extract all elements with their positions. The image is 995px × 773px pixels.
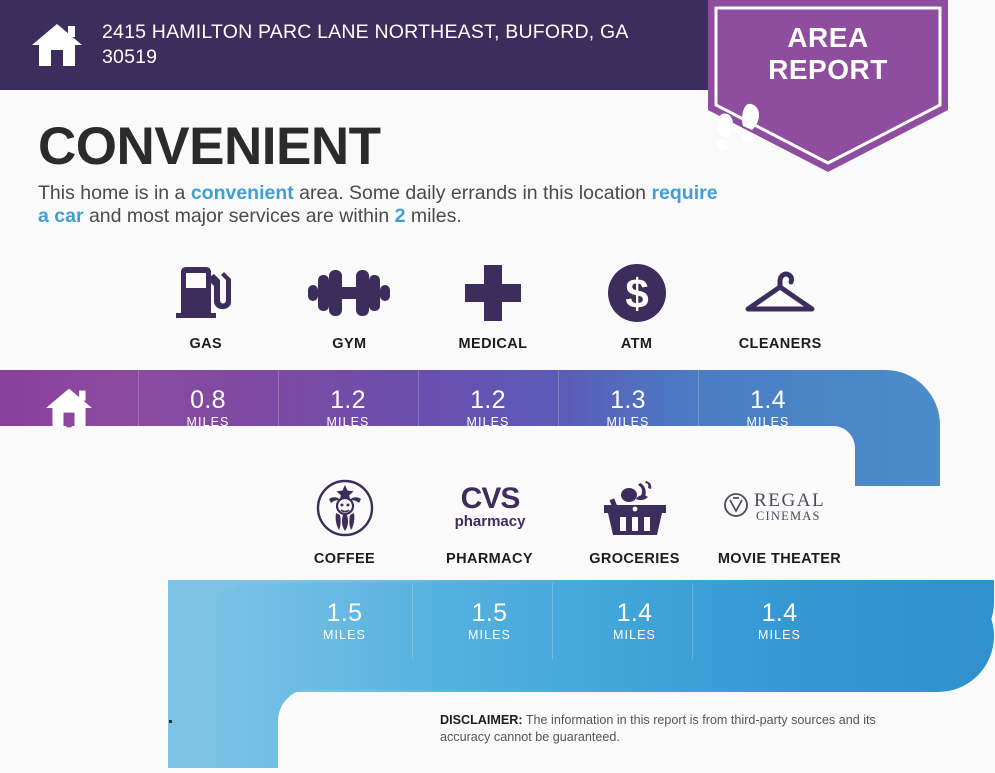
- distance-value: 1.4: [750, 387, 786, 414]
- bar-divider: [552, 583, 553, 659]
- distance-value: 1.5: [327, 600, 363, 627]
- service-label: COFFEE: [314, 551, 375, 567]
- home-icon: [30, 20, 84, 70]
- distance-value: 1.2: [470, 387, 506, 414]
- area-report-badge: AREA REPORT: [708, 0, 948, 175]
- service-label: CLEANERS: [739, 336, 822, 352]
- description-text: This home is in a: [38, 182, 191, 204]
- services-icon-row-secondary: COFFEE CVS pharmacy PHARMACY: [272, 477, 852, 567]
- service-label: GAS: [189, 336, 222, 352]
- distance-unit: MILES: [186, 415, 229, 429]
- bar-divider: [138, 370, 139, 446]
- bar-divider: [698, 370, 699, 446]
- services-icon-row-primary: GAS GYM MEDICAL: [134, 262, 852, 352]
- distance-coffee: 1.5 MILES: [272, 583, 417, 659]
- service-label: PHARMACY: [446, 551, 533, 567]
- description-highlight: convenient: [191, 182, 294, 204]
- header-bar: 2415 HAMILTON PARC LANE NORTHEAST, BUFOR…: [0, 0, 717, 90]
- grocery-basket-icon: [600, 477, 670, 539]
- distance-unit: MILES: [606, 415, 649, 429]
- distance-value: 1.5: [472, 600, 508, 627]
- service-coffee: COFFEE: [272, 477, 417, 567]
- regal-wordmark: REGAL: [754, 490, 825, 511]
- bar-divider: [692, 583, 693, 659]
- distance-value: 1.2: [330, 387, 366, 414]
- footprints-icon: [708, 98, 948, 156]
- service-movie-theater: REGAL CINEMAS MOVIE THEATER: [707, 477, 852, 567]
- distance-unit: MILES: [323, 628, 366, 642]
- badge-title-line1: AREA: [708, 22, 948, 54]
- service-label: ATM: [621, 336, 653, 352]
- bar-divider: [558, 370, 559, 446]
- service-gym: GYM: [278, 262, 422, 352]
- bar-divider: [412, 583, 413, 659]
- distance-unit: MILES: [758, 628, 801, 642]
- service-cleaners: CLEANERS: [708, 262, 852, 352]
- distance-value: 1.4: [617, 600, 653, 627]
- disclaimer-label: DISCLAIMER:: [440, 713, 523, 727]
- service-groceries: GROCERIES: [562, 477, 707, 567]
- starbucks-logo-icon: [316, 477, 374, 539]
- badge-title: AREA REPORT: [708, 22, 948, 86]
- distance-gas: 0.8 MILES: [138, 370, 278, 446]
- distance-unit: MILES: [468, 628, 511, 642]
- service-label: MOVIE THEATER: [718, 551, 841, 567]
- distance-values-primary: 0.8 MILES 1.2 MILES 1.2 MILES 1.3 MILES …: [0, 370, 838, 446]
- service-label: MEDICAL: [459, 336, 528, 352]
- regal-cinemas-logo-icon: REGAL CINEMAS: [720, 477, 840, 539]
- service-pharmacy: CVS pharmacy PHARMACY: [417, 477, 562, 567]
- cvs-pharmacy-logo-icon: CVS pharmacy: [442, 477, 538, 539]
- distance-value: 0.8: [190, 387, 226, 414]
- property-address: 2415 HAMILTON PARC LANE NORTHEAST, BUFOR…: [102, 20, 672, 70]
- disclaimer: DISCLAIMER: The information in this repo…: [440, 712, 920, 746]
- svg-text:$: $: [625, 270, 648, 317]
- cvs-wordmark: CVS: [460, 482, 519, 515]
- distance-pharmacy: 1.5 MILES: [417, 583, 562, 659]
- dumbbell-icon: [306, 262, 392, 324]
- service-medical: MEDICAL: [421, 262, 565, 352]
- distance-groceries: 1.4 MILES: [562, 583, 707, 659]
- medical-cross-icon: [463, 262, 523, 324]
- bar-divider: [418, 370, 419, 446]
- distance-unit: MILES: [466, 415, 509, 429]
- distance-atm: 1.3 MILES: [558, 370, 698, 446]
- gas-pump-icon: [175, 262, 237, 324]
- distance-movie-theater: 1.4 MILES: [707, 583, 852, 659]
- description-text: area. Some daily errands in this locatio…: [294, 182, 652, 204]
- cinemas-wordmark: CINEMAS: [756, 509, 821, 523]
- service-label: GYM: [332, 336, 366, 352]
- distance-unit: MILES: [746, 415, 789, 429]
- description-highlight: 2: [395, 205, 406, 227]
- description-text: and most major services are within: [84, 205, 395, 227]
- distance-medical: 1.2 MILES: [418, 370, 558, 446]
- page-description: This home is in a convenient area. Some …: [38, 182, 718, 228]
- bar-divider: [278, 370, 279, 446]
- distance-value: 1.4: [762, 600, 798, 627]
- distance-values-secondary: 1.5 MILES 1.5 MILES 1.4 MILES 1.4 MILES: [272, 583, 852, 659]
- service-label: GROCERIES: [589, 551, 680, 567]
- page-mark: [169, 720, 172, 723]
- dollar-circle-icon: $: [607, 262, 667, 324]
- pharmacy-wordmark: pharmacy: [454, 513, 526, 530]
- clothes-hanger-icon: [741, 262, 819, 324]
- distance-unit: MILES: [613, 628, 656, 642]
- distance-gym: 1.2 MILES: [278, 370, 418, 446]
- service-gas: GAS: [134, 262, 278, 352]
- home-marker: [0, 370, 138, 446]
- service-atm: $ ATM: [565, 262, 709, 352]
- distance-cleaners: 1.4 MILES: [698, 370, 838, 446]
- badge-title-line2: REPORT: [708, 54, 948, 86]
- distance-unit: MILES: [326, 415, 369, 429]
- description-text: miles.: [405, 205, 461, 227]
- distance-value: 1.3: [610, 387, 646, 414]
- page-title: CONVENIENT: [38, 118, 380, 176]
